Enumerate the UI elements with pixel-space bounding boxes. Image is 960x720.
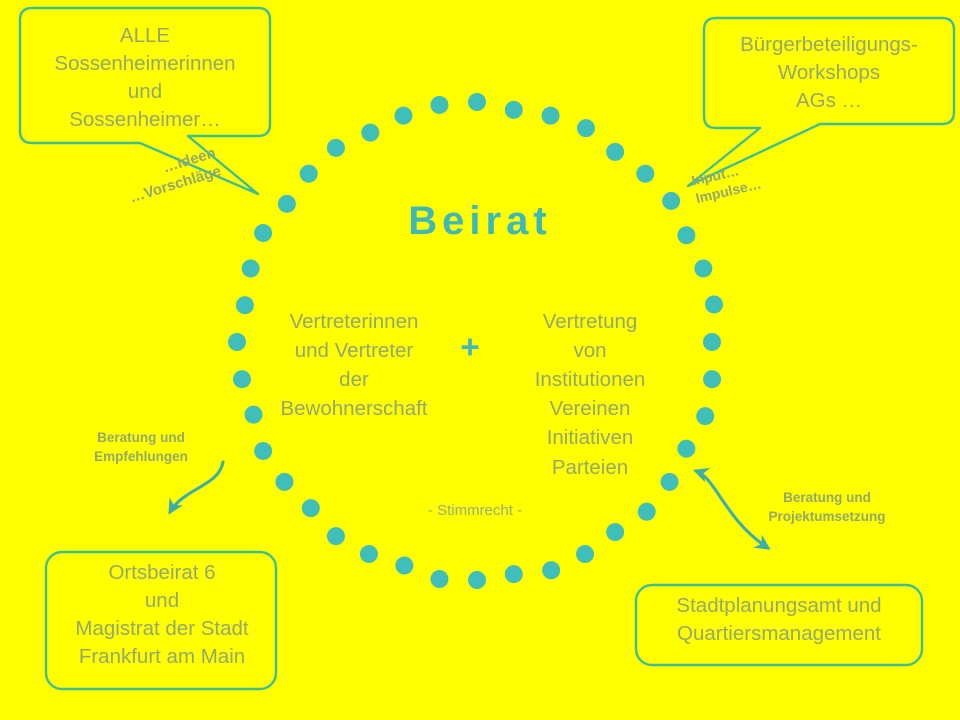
center-right-line: von	[494, 336, 686, 365]
arrow-label-line: Empfehlungen	[73, 447, 209, 466]
box-bottom-left-line: und	[48, 587, 276, 615]
ring-dot	[300, 165, 318, 183]
ring-dot	[606, 143, 624, 161]
center-right-line: Institutionen	[494, 365, 686, 394]
center-left-line: Vertreterinnen	[258, 307, 450, 336]
box-bottom-right-label: Stadtplanungsamt und Quartiersmanagement	[638, 592, 920, 648]
ring-dot	[242, 259, 260, 277]
ring-dot	[636, 165, 654, 183]
arrow-label-line: Beratung und	[73, 428, 209, 447]
ring-dot	[703, 370, 721, 388]
box-bottom-right-line: Stadtplanungsamt und	[638, 592, 920, 620]
ring-dot	[327, 527, 345, 545]
box-bottom-left-label: Ortsbeirat 6 und Magistrat der Stadt Fra…	[48, 559, 276, 671]
ring-dot	[430, 96, 448, 114]
bubble-top-left-tail-label: …Ideen …Vorschläge	[122, 144, 224, 208]
bubble-top-right-line: AGs …	[706, 87, 952, 115]
ring-dot	[577, 119, 595, 137]
arrow-label-beratung-projektumsetzung: Beratung und Projektumsetzung	[743, 488, 911, 526]
center-column-left: Vertreterinnen und Vertreter der Bewohne…	[258, 307, 450, 423]
ring-dot	[468, 93, 486, 111]
ring-dot	[327, 139, 345, 157]
ring-dot	[638, 503, 656, 521]
ring-dot	[696, 407, 714, 425]
ring-dot	[606, 523, 624, 541]
arrow-beratung-empfehlungen	[170, 462, 223, 512]
center-column-right: Vertretung von Institutionen Vereinen In…	[494, 307, 686, 482]
ring-dot	[302, 499, 320, 517]
ring-dot	[233, 370, 251, 388]
center-left-line: der	[258, 365, 450, 394]
box-bottom-left-line: Ortsbeirat 6	[48, 559, 276, 587]
ring-dot	[694, 259, 712, 277]
ring-dot	[576, 545, 594, 563]
bubble-top-left-line: ALLE	[22, 22, 268, 50]
center-right-line: Vertretung	[494, 307, 686, 336]
bubble-top-left-line: Sossenheimerinnen	[22, 50, 268, 78]
box-bottom-left-line: Frankfurt am Main	[48, 643, 276, 671]
bubble-top-right-tail-label: Input… Impulse…	[690, 158, 763, 207]
ring-dot	[505, 101, 523, 119]
ring-dot	[360, 545, 378, 563]
center-right-line: Vereinen	[494, 394, 686, 423]
stimmrecht-footnote: - Stimmrecht -	[330, 502, 620, 519]
page-title: Beirat	[0, 201, 960, 241]
center-left-line: Bewohnerschaft	[258, 394, 450, 423]
bubble-top-left-line: und	[22, 78, 268, 106]
ring-dot	[361, 124, 379, 142]
ring-dot	[228, 333, 246, 351]
plus-icon: +	[440, 330, 500, 363]
center-right-line: Parteien	[494, 453, 686, 482]
bubble-top-right-line: Workshops	[706, 59, 952, 87]
bubble-top-right-line: Bürgerbeteiligungs-	[706, 31, 952, 59]
center-left-line: und Vertreter	[258, 336, 450, 365]
ring-dot	[254, 442, 272, 460]
ring-dot	[275, 473, 293, 491]
ring-dot	[542, 107, 560, 125]
arrow-label-line: Beratung und	[743, 488, 911, 507]
bubble-top-left-line: Sossenheimer…	[22, 106, 268, 134]
ring-dot	[542, 561, 560, 579]
ring-dot	[430, 570, 448, 588]
arrow-label-beratung-empfehlungen: Beratung und Empfehlungen	[73, 428, 209, 466]
box-bottom-right-line: Quartiersmanagement	[638, 620, 920, 648]
box-bottom-left-line: Magistrat der Stadt	[48, 615, 276, 643]
ring-dot	[394, 107, 412, 125]
ring-dot	[395, 557, 413, 575]
bubble-top-left-label: ALLE Sossenheimerinnen und Sossenheimer…	[22, 22, 268, 134]
ring-dot	[505, 565, 523, 583]
ring-dot	[705, 295, 723, 313]
ring-dot	[468, 571, 486, 589]
diagram-canvas: Beirat Vertreterinnen und Vertreter der …	[0, 0, 960, 720]
center-right-line: Initiativen	[494, 423, 686, 452]
arrow-label-line: Projektumsetzung	[743, 507, 911, 526]
ring-dot	[703, 333, 721, 351]
ring-dot	[236, 296, 254, 314]
bubble-top-right-label: Bürgerbeteiligungs- Workshops AGs …	[706, 31, 952, 115]
